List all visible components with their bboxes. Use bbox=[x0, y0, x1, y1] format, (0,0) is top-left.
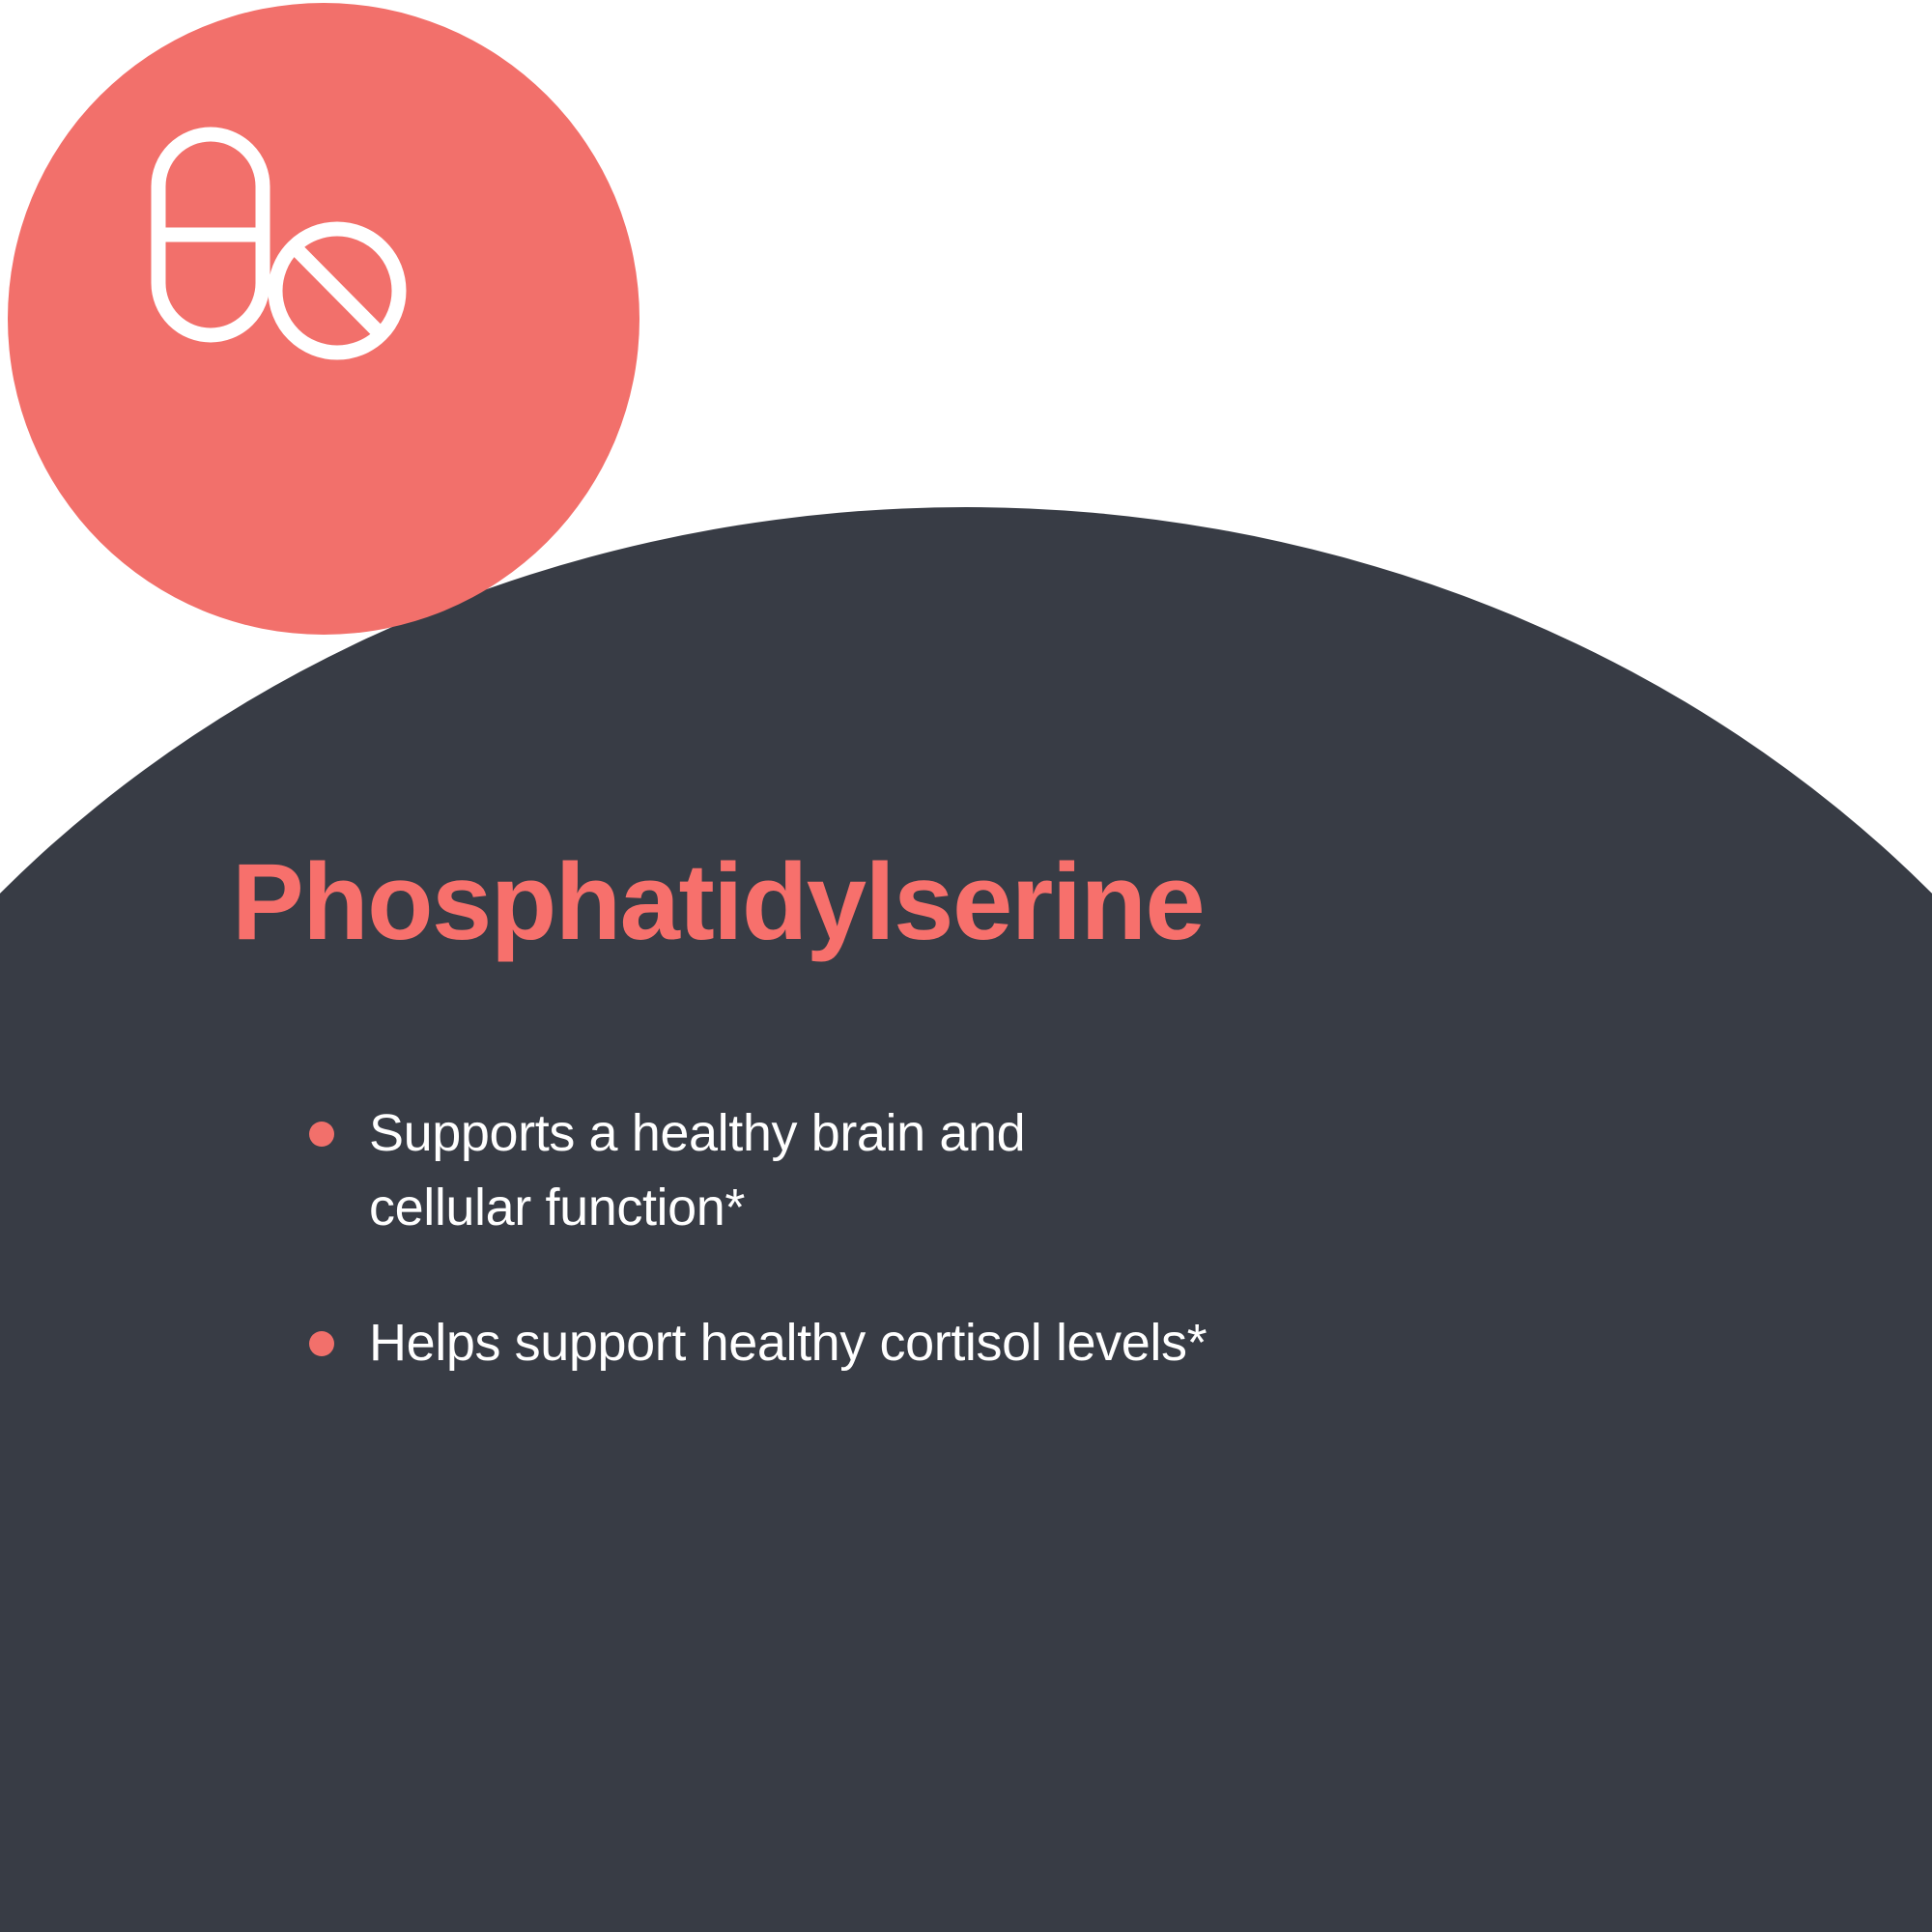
benefits-list: Supports a healthy brain and cellular fu… bbox=[301, 1096, 1731, 1380]
benefit-text: Helps support healthy cortisol levels* bbox=[369, 1306, 1731, 1380]
list-item: Helps support healthy cortisol levels* bbox=[301, 1306, 1731, 1380]
bullet-dot-icon bbox=[309, 1331, 334, 1356]
product-benefit-card: Phosphatidylserine Supports a healthy br… bbox=[0, 0, 1932, 1932]
page-title: Phosphatidylserine bbox=[232, 846, 1204, 958]
card-content: Phosphatidylserine Supports a healthy br… bbox=[0, 0, 1932, 1932]
list-item: Supports a healthy brain and cellular fu… bbox=[301, 1096, 1731, 1244]
bullet-dot-icon bbox=[309, 1122, 334, 1147]
benefit-text: Supports a healthy brain and cellular fu… bbox=[369, 1096, 1731, 1244]
